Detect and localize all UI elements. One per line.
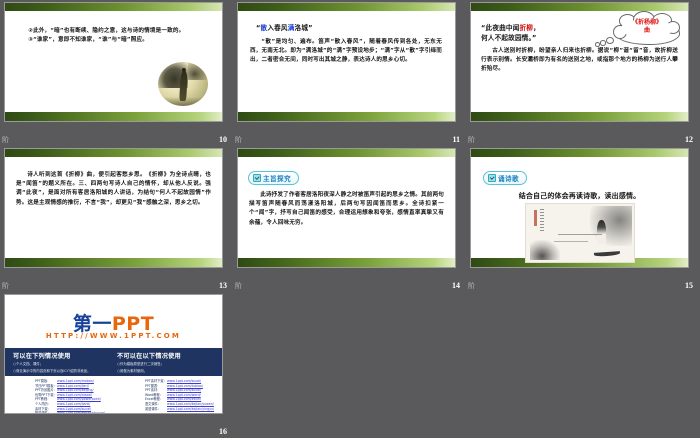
slide-thumbnail-16[interactable]: 第一PPT HTTP://WWW.1PPT.COM 可以在下列情况使用 ○个人文…	[5, 295, 222, 413]
slide-watermark: 阶	[2, 135, 9, 145]
resource-link-area: PPT模板：www.1ppt.com/moban/ 节日PPT模板：www.1p…	[5, 379, 222, 413]
slide-body-14: 主旨探究 此诗抒发了作者客居洛阳夜深人静之时被笛声引起的思乡之情。其前两句描写笛…	[242, 159, 451, 256]
slide-thumbnail-11[interactable]: “散入春风满洛城” “散”是均匀、遍布。笛声“散入春风”，随着春风传到各处，无东…	[238, 3, 455, 121]
link-url[interactable]: www.1ppt.com/beijing/	[57, 388, 94, 392]
allowed-usage-title: 可以在下列情况使用	[13, 351, 108, 360]
slide-bottom-bar	[5, 258, 222, 267]
slide-watermark: 阶	[468, 135, 475, 145]
allowed-usage-line-1: ○个人文档、课件；	[13, 362, 108, 367]
quote-close: ”	[308, 24, 313, 32]
slide-top-bar	[5, 3, 222, 11]
heading-text-zheliu: 折柳	[520, 24, 534, 32]
slide-watermark: 阶	[2, 281, 9, 291]
slide-thumbnail-15[interactable]: 诵诗歌 结合自己的体会再读诗歌，读出感情。	[471, 149, 688, 267]
slide-top-bar	[238, 3, 455, 11]
disallowed-usage-title: 不可以在以下情况使用	[117, 351, 215, 360]
section-badge-label: 诵诗歌	[498, 175, 519, 183]
link-url[interactable]: www.1ppt.com/excel/	[167, 397, 201, 401]
link-url[interactable]: www.1ppt.com/jieri/	[57, 384, 89, 388]
slide-top-bar	[471, 3, 688, 11]
check-square-icon	[488, 174, 496, 182]
slide-bottom-bar	[471, 112, 688, 121]
slide-thumbnail-14[interactable]: 主旨探究 此诗抒发了作者客居洛阳夜深人静之时被笛声引起的思乡之情。其前两句描写笛…	[238, 149, 455, 267]
heading-text-comma: ，	[533, 24, 540, 32]
heading-word-man: 满	[288, 24, 295, 32]
slide-cell-11[interactable]: “散入春风满洛城” “散”是均匀、遍布。笛声“散入春风”，随着春风传到各处，无东…	[233, 0, 466, 146]
section-badge-label: 主旨探究	[263, 175, 291, 183]
heading-text-line2: 何人不起故园情。”	[481, 34, 537, 42]
slide-14-para-1: 此诗抒发了作者客居洛阳夜深人静之时被笛声引起的思乡之情。其前两句描写笛声随春风而…	[249, 191, 444, 228]
slide-number-16: 16	[219, 427, 227, 436]
moonlit-figure-photo	[158, 62, 208, 106]
slide-number-15: 15	[685, 281, 693, 290]
slide-top-bar	[5, 149, 222, 157]
slide-number-12: 12	[685, 135, 693, 144]
slide-thumbnail-12[interactable]: “此夜曲中闻折柳， 何人不起故园情。” 古人送别时折柳，盼望亲人归来也折柳。据说…	[471, 3, 688, 121]
slide-10-para-1: ②此外，“暗”也有断续、隐约之意，这与诗的情境是一致的。	[17, 27, 210, 36]
heading-word-luocheng: 洛城	[295, 24, 309, 32]
thought-bubble-callout: 《折杨柳》 曲	[616, 17, 678, 47]
link-url[interactable]: www.1ppt.com/kejian/yuwen/	[167, 402, 214, 406]
slide-number-14: 14	[452, 281, 460, 290]
slide-number-11: 11	[452, 135, 460, 144]
link-url[interactable]: www.1ppt.com/moban/	[57, 379, 94, 383]
slide-body-13: 诗人听到这首《折柳》曲，便引起客愁乡思。《折柳》为全诗点睛，也是“闻笛”的题义所…	[9, 159, 218, 256]
link-url[interactable]: www.1ppt.com/kejian/shuxue/	[57, 411, 105, 413]
section-badge-zhuzhi: 主旨探究	[248, 171, 299, 185]
slide-bottom-bar	[238, 258, 455, 267]
heading-text-part1: “此夜曲中闻	[481, 24, 520, 32]
link-row: 数学课件：www.1ppt.com/kejian/shuxue/	[35, 411, 105, 413]
link-url[interactable]: www.1ppt.com/tubiao/	[167, 384, 203, 388]
usage-terms-band: 可以在下列情况使用 ○个人文档、课件； ○商业演示中的内容页和下页以及IC介绍的…	[5, 348, 222, 376]
slide-12-para-1: 古人送别时折柳，盼望亲人归来也折柳。据说“柳”谐“留”音，故折柳送行表示别情。长…	[481, 47, 678, 75]
allowed-usage-column: 可以在下列情况使用 ○个人文档、课件； ○商业演示中的内容页和下页以及IC介绍的…	[13, 351, 108, 374]
slide-thumbnail-grid: ②此外，“暗”也有断续、隐约之意，这与诗的情境是一致的。 ③“谁家”，意即不知谁…	[0, 0, 700, 438]
slide-cell-12[interactable]: “此夜曲中闻折柳， 何人不起故园情。” 古人送别时折柳，盼望亲人归来也折柳。据说…	[466, 0, 699, 146]
check-square-icon	[253, 174, 261, 182]
chinese-ink-landscape-painting	[525, 203, 635, 263]
link-row: 英语课件：www.1ppt.com/kejian/yingyu/	[145, 407, 214, 412]
site-url[interactable]: HTTP://WWW.1PPT.COM	[5, 332, 222, 340]
slide-body-11: “散入春风满洛城” “散”是均匀、遍布。笛声“散入春风”，随着春风传到各处，无东…	[242, 13, 451, 110]
slide-cell-14[interactable]: 主旨探究 此诗抒发了作者客居洛阳夜深人静之时被笛声引起的思乡之情。其前两句描写笛…	[233, 146, 466, 292]
slide-15-para-1: 结合自己的体会再读诗歌，读出感情。	[519, 192, 641, 200]
disallowed-usage-line-1: ○作为模板原型进行二次销售；	[117, 362, 215, 367]
slide-11-heading: “散入春风满洛城”	[242, 13, 451, 32]
resource-links-right: PPT素材下载：www.1ppt.com/sucai/ PPT图表：www.1p…	[145, 379, 214, 411]
link-url[interactable]: www.1ppt.com/powerpoint/	[57, 397, 101, 401]
slide-watermark: 阶	[468, 281, 475, 291]
slide-body-12: “此夜曲中闻折柳， 何人不起故园情。” 古人送别时折柳，盼望亲人归来也折柳。据说…	[475, 13, 684, 110]
disallowed-usage-line-2: ○用做为素材使用。	[117, 369, 215, 374]
callout-line-2: 曲	[644, 27, 650, 34]
slide-number-10: 10	[219, 135, 227, 144]
slide-cell-10[interactable]: ②此外，“暗”也有断续、隐约之意，这与诗的情境是一致的。 ③“谁家”，意即不知谁…	[0, 0, 233, 146]
slide-thumbnail-13[interactable]: 诗人听到这首《折柳》曲，便引起客愁乡思。《折柳》为全诗点睛，也是“闻笛”的题义所…	[5, 149, 222, 267]
slide-body-15: 诵诗歌 结合自己的体会再读诗歌，读出感情。	[475, 159, 684, 256]
slide-cell-15[interactable]: 诵诗歌 结合自己的体会再读诗歌，读出感情。 阶 15	[466, 146, 699, 292]
slide-top-bar	[471, 149, 688, 157]
link-url[interactable]: www.1ppt.com/sucai/	[167, 379, 201, 383]
slide-thumbnail-10[interactable]: ②此外，“暗”也有断续、隐约之意，这与诗的情境是一致的。 ③“谁家”，意即不知谁…	[5, 3, 222, 121]
slide-watermark: 阶	[235, 135, 242, 145]
slide-bottom-bar	[5, 112, 222, 121]
link-url[interactable]: www.1ppt.com/sucai/	[167, 388, 201, 392]
slide-cell-16[interactable]: 第一PPT HTTP://WWW.1PPT.COM 可以在下列情况使用 ○个人文…	[0, 292, 233, 438]
slide-body-16: 第一PPT HTTP://WWW.1PPT.COM 可以在下列情况使用 ○个人文…	[5, 295, 222, 413]
slide-bottom-bar	[238, 112, 455, 121]
slide-watermark: 阶	[235, 281, 242, 291]
section-badge-songshige: 诵诗歌	[483, 171, 527, 185]
slide-top-bar	[238, 149, 455, 157]
resource-links-left: PPT模板：www.1ppt.com/moban/ 节日PPT模板：www.1p…	[35, 379, 105, 413]
allowed-usage-line-2: ○商业演示中的内容页和下页以及IC介绍的非卖品。	[13, 369, 108, 374]
callout-line-1: 《折杨柳》	[632, 19, 662, 26]
slide-13-para-1: 诗人听到这首《折柳》曲，便引起客愁乡思。《折柳》为全诗点睛，也是“闻笛”的题义所…	[16, 171, 211, 208]
disallowed-usage-column: 不可以在以下情况使用 ○作为模板原型进行二次销售； ○用做为素材使用。	[117, 351, 215, 374]
link-url[interactable]: www.1ppt.com/kejian/yingyu/	[167, 407, 214, 411]
slide-10-para-2: ③“谁家”，意即不知谁家，“谁”与“暗”照应。	[17, 36, 210, 45]
slide-cell-13[interactable]: 诗人听到这首《折柳》曲，便引起客愁乡思。《折柳》为全诗点睛，也是“闻笛”的题义所…	[0, 146, 233, 292]
slide-11-para-1: “散”是均匀、遍布。笛声“散入春风”，随着春风传到各处，无东无西，无南无北。即为…	[250, 38, 442, 66]
link-label: 数学课件：	[35, 411, 57, 413]
slide-body-10: ②此外，“暗”也有断续、隐约之意，这与诗的情境是一致的。 ③“谁家”，意即不知谁…	[9, 13, 218, 110]
link-url[interactable]: www.1ppt.com/sucai/	[57, 407, 91, 411]
link-label: 英语课件：	[145, 407, 167, 412]
link-url[interactable]: www.1ppt.com/jianli/	[57, 402, 90, 406]
heading-word-ruchunfeng: 入春风	[267, 24, 287, 32]
slide-number-13: 13	[219, 281, 227, 290]
